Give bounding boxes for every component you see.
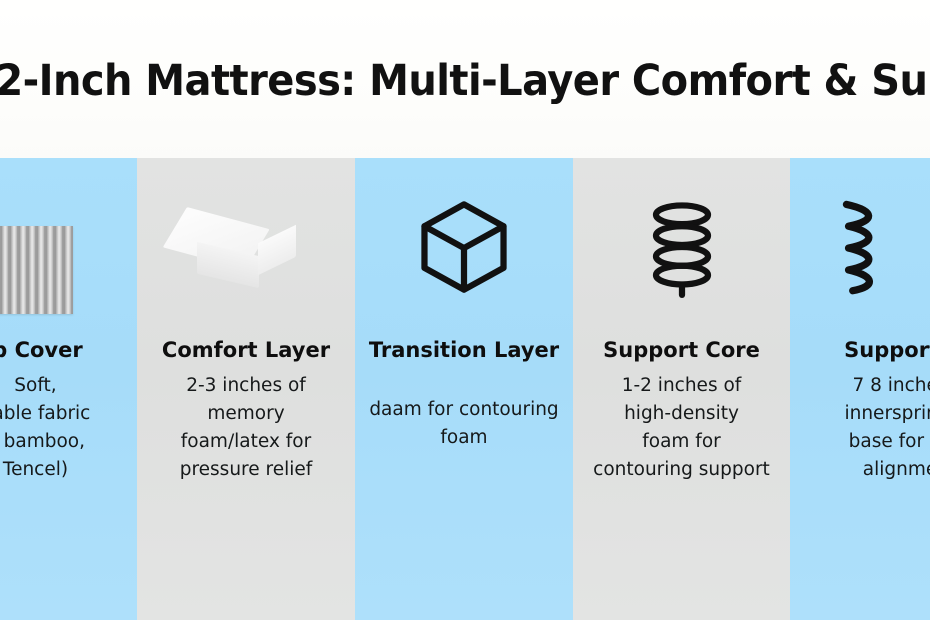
column-support-cut[interactable]: Support C 7 8 inches innerspring, base f… <box>790 158 930 620</box>
column-body-comfort-layer: 2-3 inches of memory foam/latex for pres… <box>137 372 355 484</box>
column-heading-top-cover: p Cover <box>0 339 83 362</box>
ribbed-fabric-swatch-icon <box>0 226 73 314</box>
icon-area-top-cover <box>0 158 137 333</box>
page-title: 2-Inch Mattress: Multi-Layer Comfort & S… <box>0 56 930 106</box>
foam-block-icon <box>187 207 305 291</box>
icon-area-support-core <box>573 158 790 333</box>
mattress-layers-infographic: 2-Inch Mattress: Multi-Layer Comfort & S… <box>0 0 930 620</box>
column-heading-comfort-layer: Comfort Layer <box>162 339 330 362</box>
column-body-top-cover: Soft, hable fabric ., bamboo, Tencel) <box>0 372 137 484</box>
cube-outline-icon <box>412 194 516 298</box>
title-band: 2-Inch Mattress: Multi-Layer Comfort & S… <box>0 0 930 158</box>
column-heading-support-core: Support Core <box>603 339 760 362</box>
column-support-core[interactable]: Support Core 1-2 inches of high-density … <box>573 158 790 620</box>
column-top-cover[interactable]: p Cover Soft, hable fabric ., bamboo, Te… <box>0 158 137 620</box>
zigzag-spring-icon <box>829 194 891 298</box>
column-body-support-cut: 7 8 inches innerspring, base for sp alig… <box>792 372 930 484</box>
column-heading-support-cut: Support C <box>844 339 930 362</box>
coil-spring-icon <box>641 194 723 298</box>
icon-area-transition-layer <box>355 158 573 333</box>
column-comfort-layer[interactable]: Comfort Layer 2-3 inches of memory foam/… <box>137 158 355 620</box>
icon-area-comfort-layer <box>137 158 355 333</box>
column-body-transition-layer: daam for contouring foam <box>355 396 573 452</box>
icon-area-support-cut <box>790 158 930 333</box>
column-heading-transition-layer: Transition Layer <box>369 339 559 362</box>
column-transition-layer[interactable]: Transition Layer daam for contouring foa… <box>355 158 573 620</box>
column-body-support-core: 1-2 inches of high-density foam for cont… <box>573 372 790 484</box>
layer-columns: p Cover Soft, hable fabric ., bamboo, Te… <box>0 158 930 620</box>
